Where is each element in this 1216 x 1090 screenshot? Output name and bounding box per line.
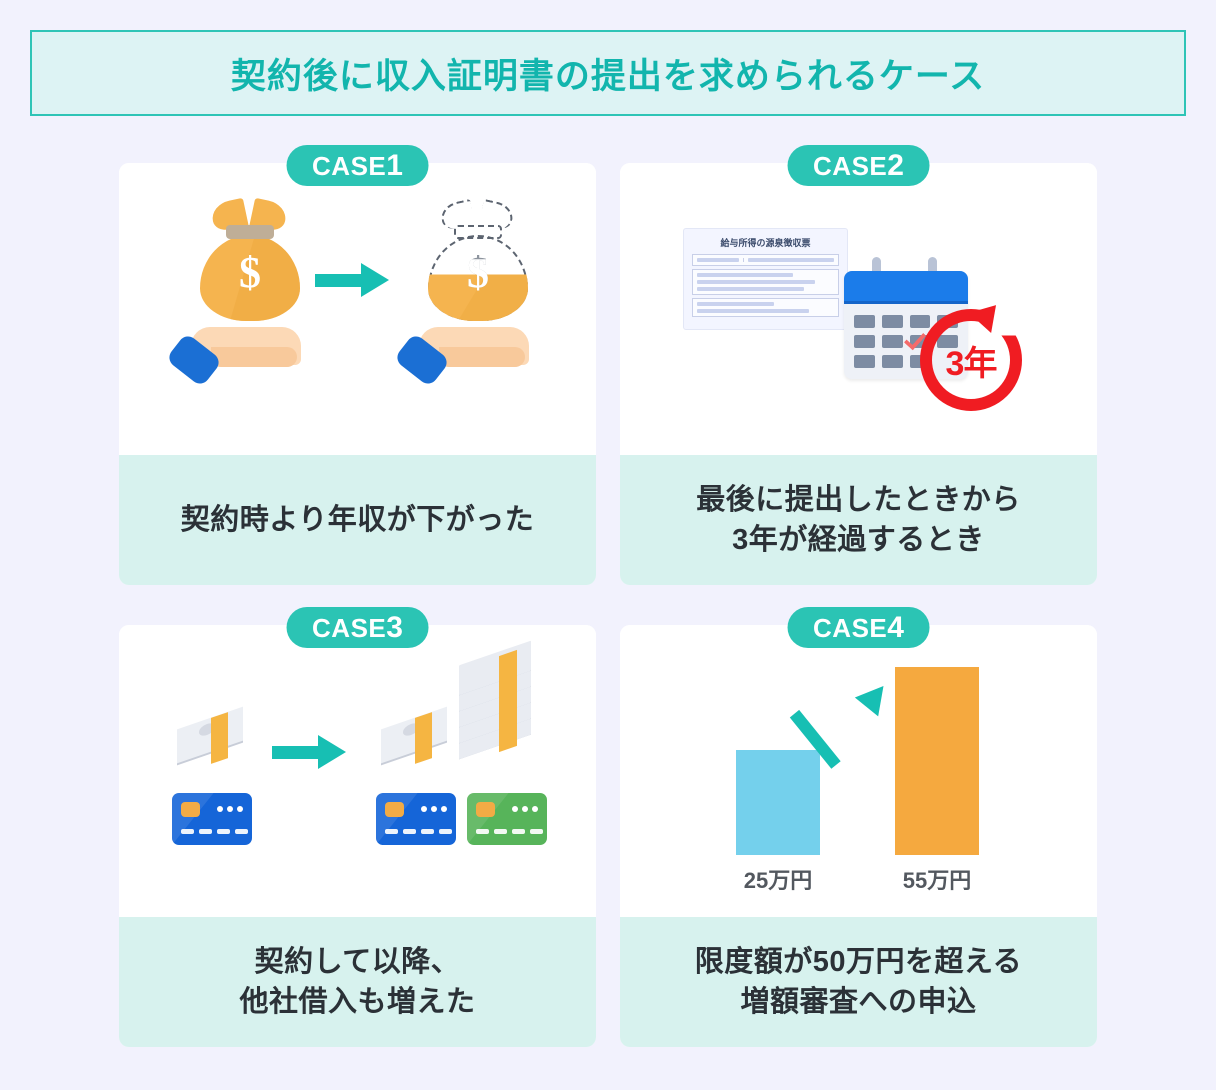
credit-card-blue-icon (376, 793, 456, 845)
cash-stack-icon (459, 653, 555, 751)
bar-label-55man: 55万円 (877, 863, 997, 895)
caption-line: 他社借入も増えた (239, 982, 475, 1022)
infographic-page: 契約後に収入証明書の提出を求められるケース CASE1 $ (0, 0, 1216, 1090)
case-card-1: CASE1 $ (119, 163, 596, 585)
hand-icon (399, 327, 529, 383)
caption-line: 契約して以降、 (255, 942, 461, 982)
right-arrow-icon (315, 263, 389, 297)
limit-increase-bar-chart: 25万円 55万円 (620, 625, 1097, 917)
case-caption-4: 限度額が50万円を超える 増額審査への申込 (620, 917, 1097, 1047)
right-arrow-icon (272, 735, 346, 769)
case-badge-word: CASE (813, 608, 887, 649)
case-card-4: CASE4 25万円 55万円 限度額が50万円を超える 増額審査への申込 (620, 625, 1097, 1047)
case-badge-2: CASE2 (787, 145, 930, 186)
page-title: 契約後に収入証明書の提出を求められるケース (231, 48, 985, 99)
cash-bundle-icon (381, 718, 459, 766)
case-badge-word: CASE (813, 146, 887, 187)
caption-line: 増額審査への申込 (740, 982, 976, 1022)
withholding-slip-icon: 給与所得の源泉徴収票 (683, 228, 848, 330)
case-badge-word: CASE (312, 608, 386, 649)
bar-55man (895, 667, 979, 855)
bar-label-25man: 25万円 (718, 863, 838, 895)
case-badge-number: 2 (887, 145, 904, 186)
cash-bundle-icon (177, 718, 255, 766)
case-badge-1: CASE1 (286, 145, 429, 186)
case-illustration-1: $ (119, 163, 596, 455)
case-card-3: CASE3 (119, 625, 596, 1047)
up-arrow-icon (826, 687, 896, 767)
document-title: 給与所得の源泉徴収票 (692, 236, 839, 249)
case-badge-word: CASE (312, 146, 386, 187)
case-badge-number: 4 (887, 607, 904, 648)
case-badge-number: 1 (386, 145, 403, 186)
case-caption-1: 契約時より年収が下がった (119, 455, 596, 585)
case-badge-number: 3 (386, 607, 403, 648)
case-badge-4: CASE4 (787, 607, 930, 648)
caption-line: 最後に提出したときから (696, 480, 1021, 520)
caption-line: 限度額が50万円を超える (695, 942, 1022, 982)
case-badge-3: CASE3 (286, 607, 429, 648)
case-caption-2: 最後に提出したときから 3年が経過するとき (620, 455, 1097, 585)
year-circle-label: 3年 (920, 309, 1022, 411)
case-illustration-2: 給与所得の源泉徴収票 (620, 163, 1097, 455)
case-caption-3: 契約して以降、 他社借入も増えた (119, 917, 596, 1047)
credit-card-blue-icon (172, 793, 252, 845)
page-title-banner: 契約後に収入証明書の提出を求められるケース (30, 30, 1186, 116)
hand-icon (171, 327, 301, 383)
three-year-cycle-icon: 3年 (920, 309, 1022, 411)
case-illustration-3 (119, 625, 596, 917)
credit-card-green-icon (467, 793, 547, 845)
case-card-2: CASE2 給与所得の源泉徴収票 (620, 163, 1097, 585)
caption-line: 契約時より年収が下がった (181, 500, 534, 540)
case-illustration-4: 25万円 55万円 (620, 625, 1097, 917)
caption-line: 3年が経過するとき (732, 520, 985, 560)
bar-25man (736, 750, 820, 855)
